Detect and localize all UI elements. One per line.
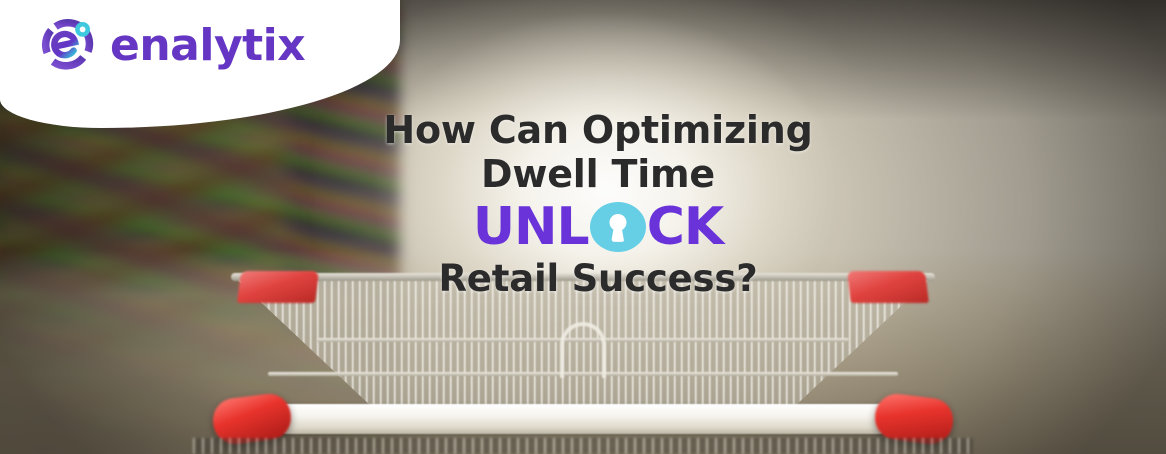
cart-handle-assembly — [213, 396, 953, 444]
cart-handle-bar — [273, 404, 893, 434]
keyhole-lock-icon — [590, 202, 646, 252]
brand-logo-lockup[interactable]: enalytix — [38, 16, 305, 76]
unlock-prefix: UNL — [473, 201, 589, 253]
brand-wordmark: enalytix — [110, 24, 305, 68]
retail-banner: enalytix How Can Optimizing Dwell Time U… — [0, 0, 1166, 454]
cart-lower-frame — [193, 438, 973, 454]
headline-block: How Can Optimizing Dwell Time UNL CK Ret… — [0, 108, 1166, 300]
headline-line-2: Dwell Time — [30, 152, 1166, 196]
enalytix-logo-icon — [38, 16, 98, 76]
unlock-suffix: CK — [647, 201, 723, 253]
headline-line-4: Retail Success? — [30, 257, 1166, 300]
unlock-wordmark: UNL CK — [30, 201, 1166, 253]
cart-child-seat-loop — [560, 322, 606, 378]
